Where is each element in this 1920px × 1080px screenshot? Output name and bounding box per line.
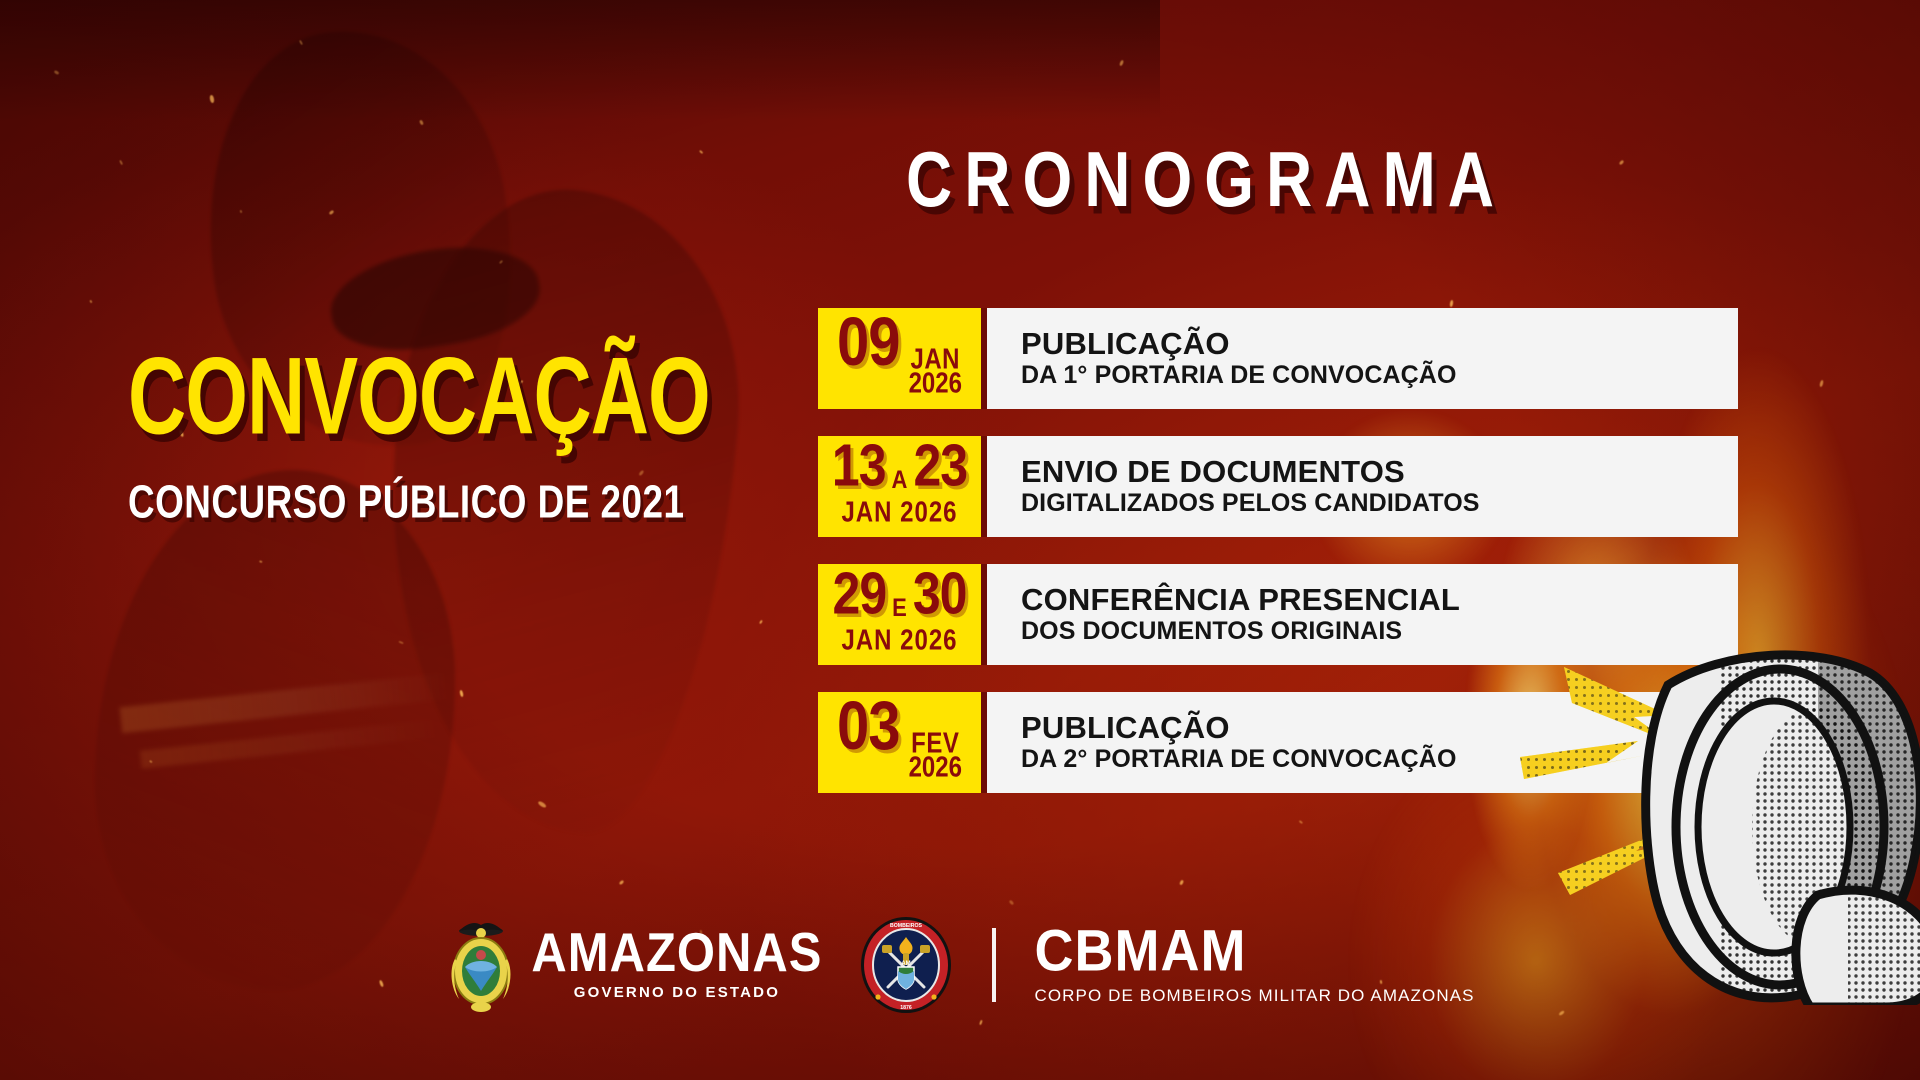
poster-canvas: CONVOCAÇÃO CONCURSO PÚBLICO DE 2021 CRON… [0, 0, 1920, 1080]
headline-block: CONVOCAÇÃO CONCURSO PÚBLICO DE 2021 [128, 345, 708, 520]
schedule-title: CONFERÊNCIA PRESENCIAL [1021, 583, 1738, 618]
date-day: 29 [833, 564, 887, 623]
date-day: 03 [837, 693, 900, 761]
page-subtitle: CONCURSO PÚBLICO DE 2021 [128, 477, 691, 529]
cbmam-tagline: CORPO DE BOMBEIROS MILITAR DO AMAZONAS [1034, 986, 1474, 1006]
svg-text:1876: 1876 [901, 1005, 913, 1011]
page-title: CONVOCAÇÃO [128, 345, 685, 449]
date-year: 2026 [909, 754, 962, 782]
date-day-end: 30 [913, 564, 967, 623]
date-conjunction: A [892, 467, 908, 492]
amazonas-coat-of-arms-icon [445, 915, 517, 1015]
date-month-year: JAN2026 [909, 348, 962, 396]
date-month-year: FEV2026 [909, 732, 962, 780]
schedule-title: ENVIO DE DOCUMENTOS [1021, 455, 1738, 490]
amazonas-name: AMAZONAS [531, 926, 822, 981]
date-day-end: 23 [913, 436, 967, 495]
date-month-year: JAN 2026 [841, 496, 957, 529]
schedule-subtitle: DOS DOCUMENTOS ORIGINAIS [1021, 617, 1738, 646]
date-day: 09 [837, 309, 900, 377]
schedule-row: 09JAN2026PUBLICAÇÃODA 1° PORTARIA DE CON… [818, 308, 1738, 409]
date-line: 13A23 [832, 445, 967, 495]
schedule-title: PUBLICAÇÃO [1021, 327, 1738, 362]
schedule-date-badge: 13A23JAN 2026 [818, 436, 981, 537]
date-line: 03FEV2026 [837, 703, 962, 780]
schedule-subtitle: DA 1° PORTARIA DE CONVOCAÇÃO [1021, 361, 1738, 390]
logo-divider [992, 928, 996, 1002]
svg-text:BOMBEIROS: BOMBEIROS [890, 923, 923, 929]
cbmam-seal-icon: BOMBEIROS 1876 AM [858, 915, 954, 1015]
date-month-year: JAN 2026 [841, 624, 957, 657]
schedule-date-badge: 03FEV2026 [818, 692, 981, 793]
amazonas-logo: AMAZONAS GOVERNO DO ESTADO [445, 915, 822, 1015]
schedule-row: 13A23JAN 2026ENVIO DE DOCUMENTOSDIGITALI… [818, 436, 1738, 537]
cbmam-wordmark: CBMAM CORPO DE BOMBEIROS MILITAR DO AMAZ… [1034, 924, 1474, 1006]
section-title: CRONOGRAMA [676, 134, 1736, 224]
date-conjunction: E [892, 595, 907, 620]
date-line: 09JAN2026 [837, 319, 962, 396]
date-day: 13 [832, 436, 886, 495]
megaphone-illustration [1518, 645, 1920, 1005]
cbmam-name: CBMAM [1034, 922, 1474, 980]
schedule-description: PUBLICAÇÃODA 1° PORTARIA DE CONVOCAÇÃO [981, 308, 1738, 409]
date-line: 29E30 [833, 573, 967, 623]
svg-text:AM: AM [902, 961, 911, 967]
megaphone-icon [1518, 645, 1920, 1005]
schedule-subtitle: DIGITALIZADOS PELOS CANDIDATOS [1021, 489, 1738, 518]
amazonas-wordmark: AMAZONAS GOVERNO DO ESTADO [531, 929, 822, 1001]
cbmam-logo: BOMBEIROS 1876 AM [858, 915, 1474, 1015]
date-year: 2026 [909, 370, 962, 398]
schedule-date-badge: 29E30JAN 2026 [818, 564, 981, 665]
schedule-description: ENVIO DE DOCUMENTOSDIGITALIZADOS PELOS C… [981, 436, 1738, 537]
schedule-date-badge: 09JAN2026 [818, 308, 981, 409]
amazonas-tagline: GOVERNO DO ESTADO [574, 984, 780, 1001]
